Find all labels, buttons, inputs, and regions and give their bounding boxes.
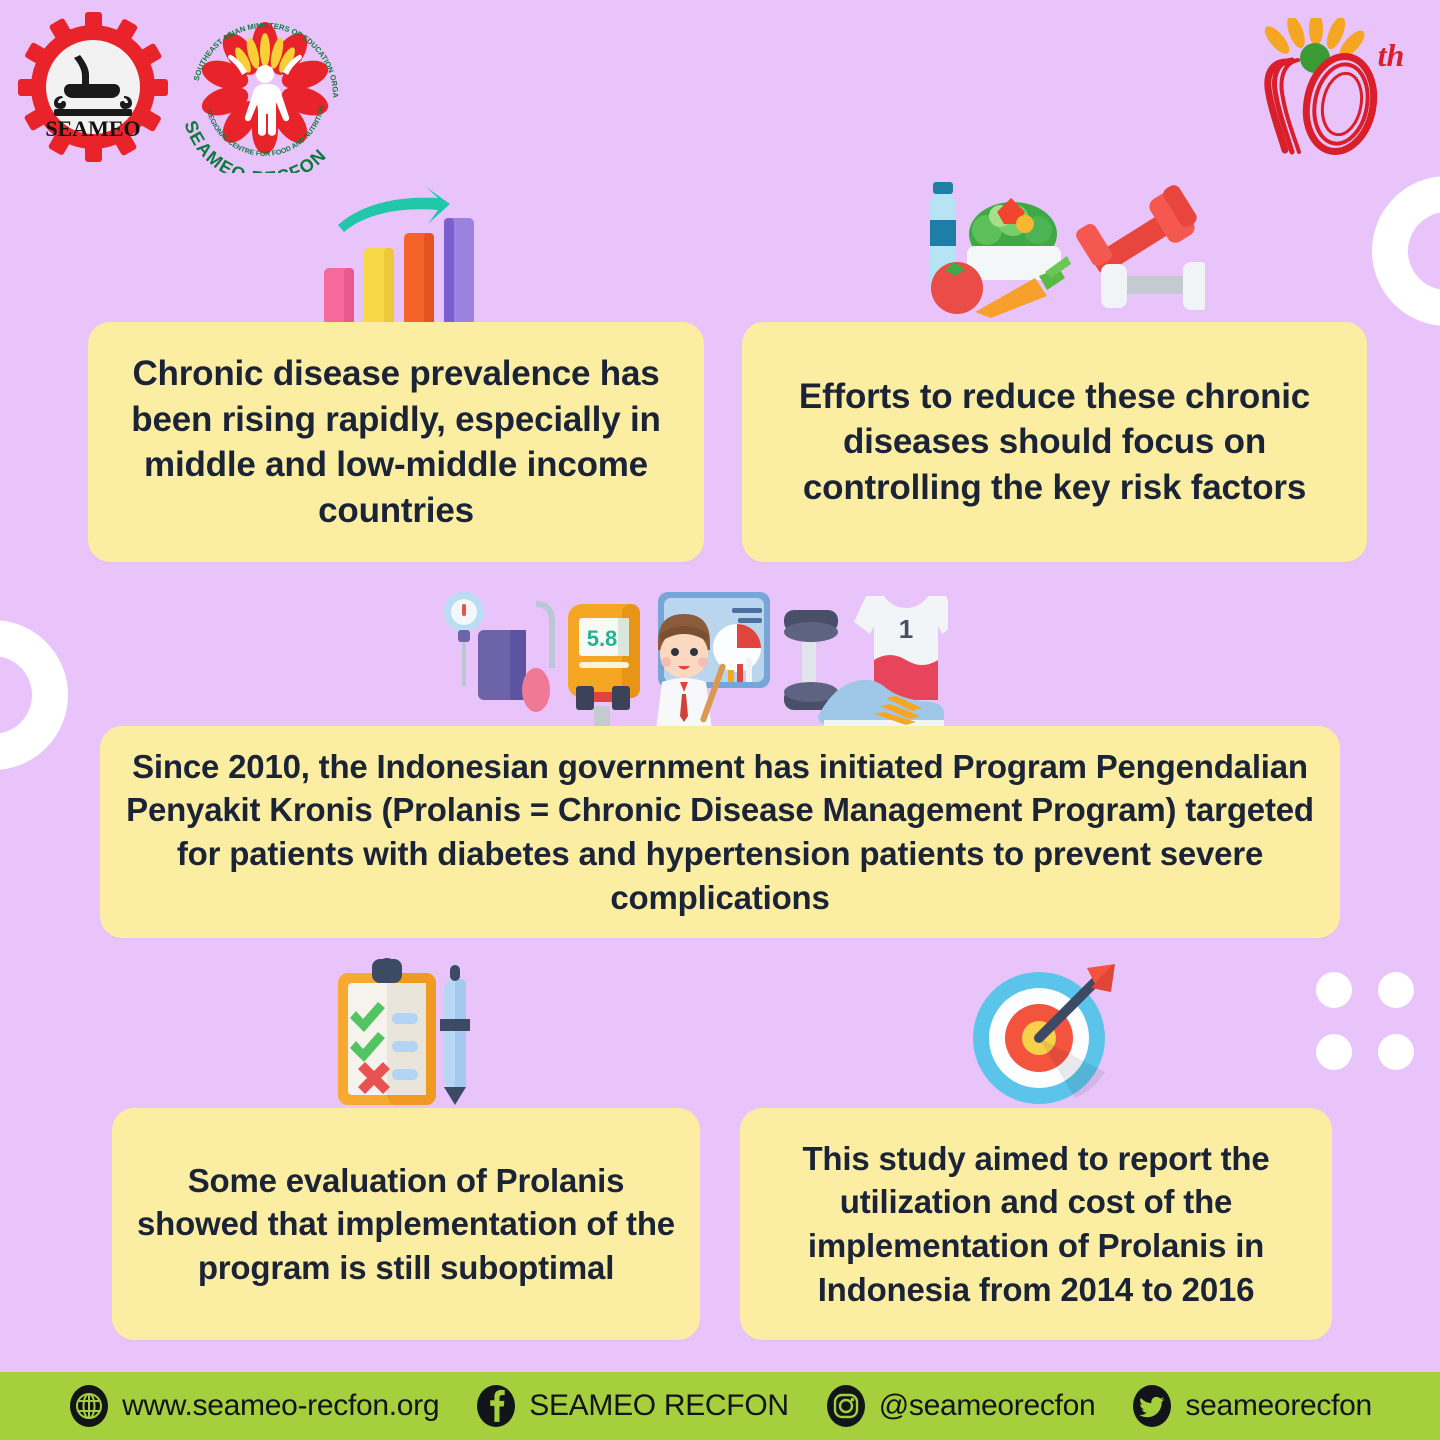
pen-icon: [440, 965, 470, 1105]
red-dumbbell-icon: [1074, 183, 1200, 276]
footer-label: SEAMEO RECFON: [529, 1389, 788, 1423]
vegetable-bowl-icon: [967, 198, 1061, 280]
instagram-icon: [825, 1385, 867, 1427]
clipboard-checklist-icon: [318, 955, 498, 1113]
blood-pressure-monitor-icon: [444, 592, 552, 712]
health-monitoring-icon: 5.8: [432, 582, 948, 730]
white-dumbbell-icon: [1101, 262, 1205, 310]
card-text: Efforts to reduce these chronic diseases…: [762, 374, 1347, 511]
seameo-logo: SEAMEO: [18, 12, 168, 162]
rising-bar-chart-icon: [316, 180, 486, 325]
dumbbell-icon: [784, 610, 838, 710]
decorative-dot: [1316, 972, 1352, 1008]
card-text: Some evaluation of Prolanis showed that …: [132, 1159, 680, 1290]
glucose-reading-text: 5.8: [587, 626, 618, 651]
glucose-meter-icon: 5.8: [568, 604, 640, 730]
decorative-dot-grid: [1316, 972, 1414, 1070]
footer-label: @seameorecfon: [879, 1389, 1096, 1423]
card-text: Chronic disease prevalence has been risi…: [108, 351, 684, 533]
digit-one-strokes: [1268, 60, 1299, 152]
globe-icon: [68, 1385, 110, 1427]
footer-instagram[interactable]: @seameorecfon: [825, 1385, 1096, 1427]
healthy-food-and-dumbbell-icon: [905, 172, 1205, 322]
card-prolanis-program: Since 2010, the Indonesian government ha…: [100, 726, 1340, 938]
decorative-dot: [1378, 1034, 1414, 1070]
jersey-number-text: 1: [899, 614, 913, 644]
target-with-dart-icon: [965, 958, 1125, 1113]
header-logo-bar: SEAMEO: [0, 0, 1440, 175]
facebook-icon: [475, 1385, 517, 1427]
card-text: Since 2010, the Indonesian government ha…: [126, 745, 1314, 919]
card-chronic-disease-prevalence: Chronic disease prevalence has been risi…: [88, 322, 704, 562]
decorative-dot: [1378, 972, 1414, 1008]
twitter-icon: [1131, 1385, 1173, 1427]
tenth-anniversary-logo: th: [1243, 18, 1423, 158]
decorative-ring-right: [1372, 176, 1440, 326]
footer-label: seameorecfon: [1185, 1389, 1372, 1423]
footer-social-bar: www.seameo-recfon.org SEAMEO RECFON @sea…: [0, 1372, 1440, 1440]
footer-twitter[interactable]: seameorecfon: [1131, 1385, 1372, 1427]
decorative-dot: [1316, 1034, 1352, 1070]
anniversary-suffix: th: [1378, 37, 1405, 73]
card-reduce-efforts: Efforts to reduce these chronic diseases…: [742, 322, 1367, 562]
card-prolanis-evaluation: Some evaluation of Prolanis showed that …: [112, 1108, 700, 1340]
card-text: This study aimed to report the utilizati…: [760, 1137, 1312, 1311]
seameo-recfon-logo: SOUTHEAST ASIAN MINISTERS OF EDUCATION O…: [175, 8, 355, 173]
footer-website[interactable]: www.seameo-recfon.org: [68, 1385, 439, 1427]
decorative-ring-left: [0, 620, 68, 770]
footer-facebook[interactable]: SEAMEO RECFON: [475, 1385, 788, 1427]
footer-label: www.seameo-recfon.org: [122, 1389, 439, 1423]
presenter-with-chart-icon: [656, 592, 770, 730]
card-study-aim: This study aimed to report the utilizati…: [740, 1108, 1332, 1340]
seameo-logo-text: SEAMEO: [45, 116, 140, 141]
tomato-icon: [931, 262, 983, 314]
